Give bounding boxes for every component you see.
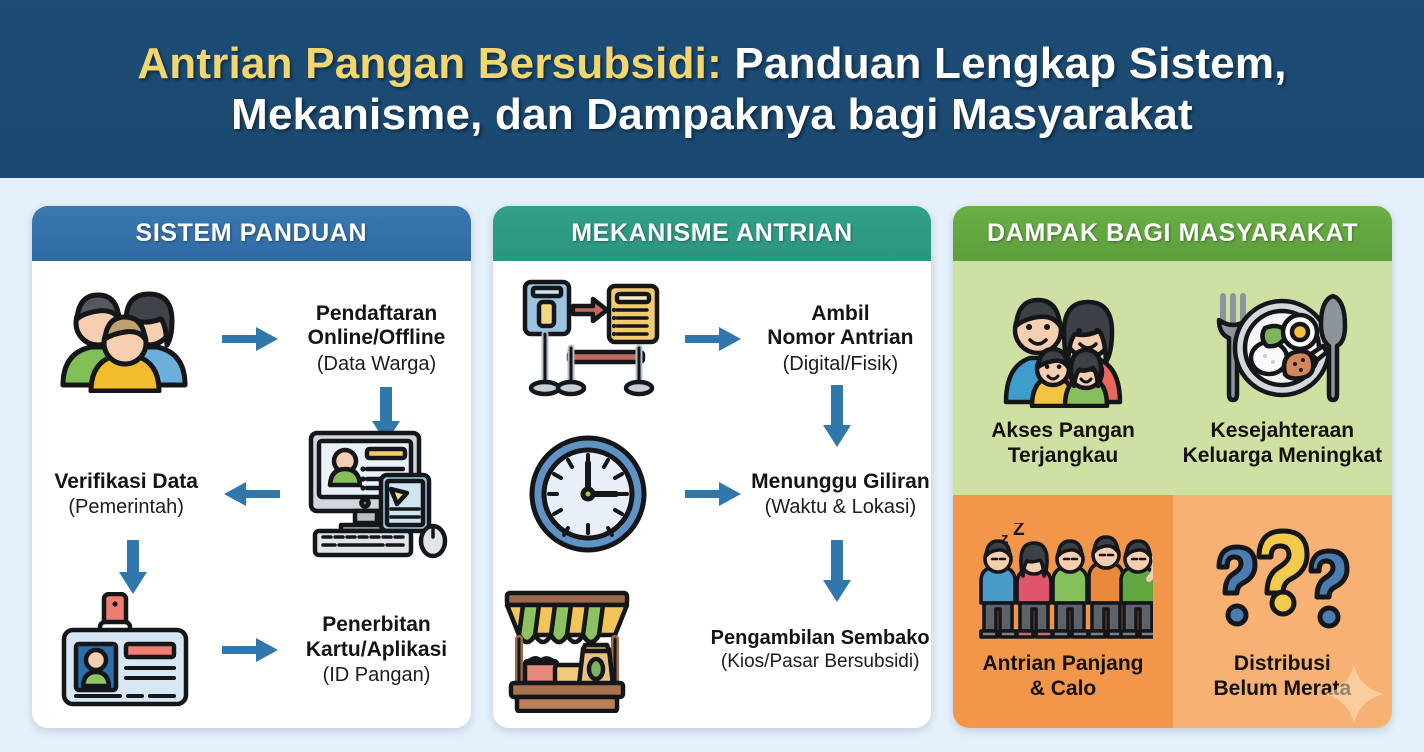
step-label-line1: Menunggu Giliran — [751, 470, 929, 494]
impact-label-line2: Terjangkau — [1008, 443, 1118, 468]
impact-distribusi: Distribusi Belum Merata — [1173, 495, 1392, 729]
step-text-penerbitan: Penerbitan Kartu/Aplikasi (ID Pangan) — [282, 613, 470, 687]
step-text-verifikasi: Verifikasi Data (Pemerintah) — [32, 470, 220, 519]
arrow-left-verifikasi — [220, 481, 282, 507]
title-line2: Mekanisme, dan Dampaknya bagi Masyarakat — [231, 90, 1193, 139]
step-text-menunggu: Menunggu Giliran (Waktu & Lokasi) — [745, 470, 931, 519]
title-rest: Panduan Lengkap Sistem, — [722, 39, 1287, 88]
impact-label-line1: Akses Pangan — [991, 418, 1135, 443]
column-body-dampak: Akses Pangan Terjangkau — [953, 261, 1392, 728]
column-heading-mekanisme-antrian: MEKANISME ANTRIAN — [493, 206, 932, 261]
step-text-pengambilan: Pengambilan Sembako (Kios/Pasar Bersubsi… — [705, 627, 932, 674]
column-body-sistem-panduan: Pendaftaran Online/Offline (Data Warga) — [32, 261, 471, 728]
step-row-verifikasi: Verifikasi Data (Pemerintah) — [32, 417, 471, 573]
meal-plate-icon — [1207, 288, 1357, 408]
column-heading-dampak: DAMPAK BAGI MASYARAKAT — [953, 206, 1392, 261]
family-icon — [998, 288, 1128, 408]
step-row-pendaftaran: Pendaftaran Online/Offline (Data Warga) — [32, 261, 471, 417]
step-sublabel: (ID Pangan) — [323, 663, 431, 687]
column-body-mekanisme-antrian: Ambil Nomor Antrian (Digital/Fisik) — [493, 261, 932, 728]
step-row-pengambilan: Pengambilan Sembako (Kios/Pasar Bersubsi… — [493, 572, 932, 728]
step-text-pendaftaran: Pendaftaran Online/Offline (Data Warga) — [282, 302, 470, 376]
impact-label-line2: Keluarga Meningkat — [1183, 443, 1383, 468]
queue-ticket-kiosk-icon — [493, 278, 683, 400]
impact-label-line1: Distribusi — [1234, 651, 1331, 676]
long-queue-people-icon: z Z — [973, 521, 1153, 641]
impact-label-line2: Belum Merata — [1213, 676, 1351, 701]
column-sistem-panduan: SISTEM PANDUAN — [32, 206, 471, 728]
step-label-line1: Pengambilan Sembako — [711, 627, 930, 650]
step-sublabel: (Kios/Pasar Bersubsidi) — [721, 651, 920, 674]
id-card-icon — [32, 592, 220, 708]
computer-registration-icon — [282, 427, 470, 561]
step-label-line2: Kartu/Aplikasi — [306, 638, 447, 662]
impact-antrian-panjang: z Z — [953, 495, 1172, 729]
impact-kesejahteraan: Kesejahteraan Keluarga Meningkat — [1173, 261, 1392, 495]
step-label-line1: Verifikasi Data — [54, 470, 198, 494]
arrow-right-penerbitan — [220, 637, 282, 663]
family-group-icon — [32, 285, 220, 393]
clock-icon — [493, 433, 683, 555]
step-label-line2: Online/Offline — [308, 326, 446, 350]
step-row-ambil-nomor: Ambil Nomor Antrian (Digital/Fisik) — [493, 261, 932, 417]
step-row-menunggu: Menunggu Giliran (Waktu & Lokasi) — [493, 417, 932, 573]
step-sublabel: (Pemerintah) — [68, 495, 184, 519]
infographic-poster: Antrian Pangan Bersubsidi: Panduan Lengk… — [0, 0, 1424, 752]
column-dampak-bagi-masyarakat: DAMPAK BAGI MASYARAKAT — [953, 206, 1392, 728]
page-title: Antrian Pangan Bersubsidi: Panduan Lengk… — [137, 38, 1286, 140]
poster-header: Antrian Pangan Bersubsidi: Panduan Lengk… — [0, 0, 1424, 178]
impact-label-line1: Antrian Panjang — [982, 651, 1143, 676]
title-highlight: Antrian Pangan Bersubsidi: — [137, 39, 722, 88]
step-text-ambil-nomor: Ambil Nomor Antrian (Digital/Fisik) — [745, 302, 931, 376]
columns-container: SISTEM PANDUAN — [0, 178, 1424, 752]
svg-text:Z: Z — [1013, 523, 1025, 540]
step-label-line1: Penerbitan — [322, 613, 431, 637]
impact-label-line2: & Calo — [1030, 676, 1097, 701]
step-label-line1: Ambil — [811, 302, 869, 326]
step-sublabel: (Waktu & Lokasi) — [765, 495, 917, 519]
column-heading-sistem-panduan: SISTEM PANDUAN — [32, 206, 471, 261]
market-stall-icon — [493, 587, 643, 713]
impact-label-line1: Kesejahteraan — [1211, 418, 1355, 443]
step-sublabel: (Digital/Fisik) — [783, 352, 899, 376]
arrow-right-menunggu — [683, 481, 745, 507]
step-label-line1: Pendaftaran — [316, 302, 437, 326]
step-sublabel: (Data Warga) — [317, 352, 436, 376]
column-mekanisme-antrian: MEKANISME ANTRIAN — [493, 206, 932, 728]
arrow-right-pendaftaran — [220, 326, 282, 352]
question-marks-icon — [1207, 521, 1357, 641]
step-label-line2: Nomor Antrian — [767, 326, 913, 350]
arrow-right-ambil-nomor — [683, 326, 745, 352]
step-row-penerbitan: Penerbitan Kartu/Aplikasi (ID Pangan) — [32, 572, 471, 728]
impact-akses-pangan: Akses Pangan Terjangkau — [953, 261, 1172, 495]
